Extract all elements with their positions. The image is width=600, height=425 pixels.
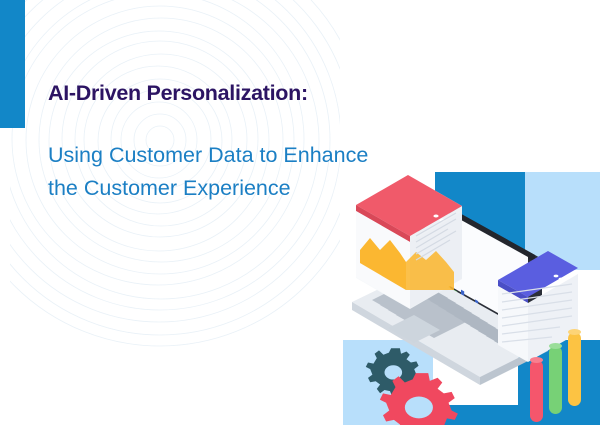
bar-3d-green — [549, 343, 562, 414]
bar-3d-yellow — [568, 329, 581, 406]
illustration-laptop-analytics — [330, 150, 600, 425]
banner-canvas: AI-Driven Personalization: Using Custome… — [0, 0, 600, 425]
background-square-light-blue — [525, 172, 600, 270]
bar-3d-red — [530, 357, 543, 422]
page-title: AI-Driven Personalization: — [48, 82, 448, 106]
page-subtitle: Using Customer Data to Enhance the Custo… — [48, 139, 378, 206]
accent-bar — [0, 0, 25, 128]
